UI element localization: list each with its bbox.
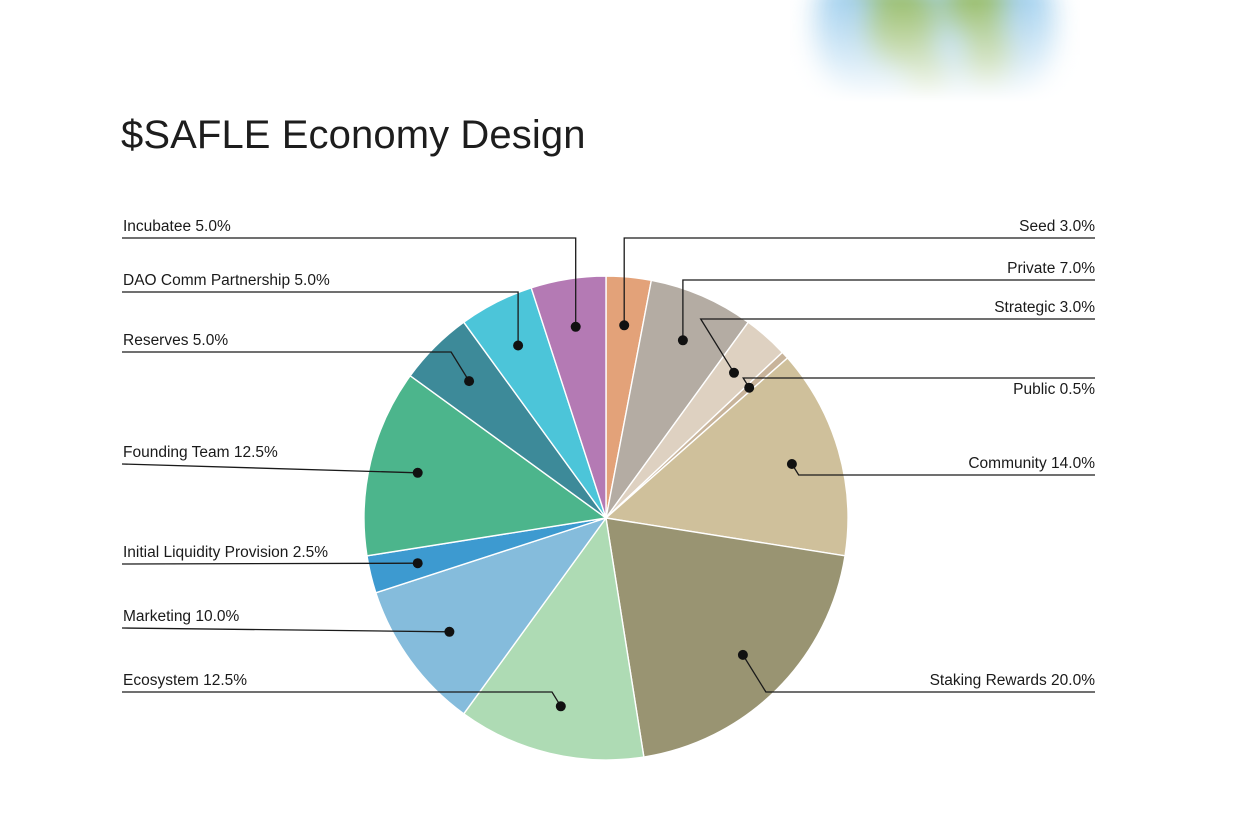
leader-dot-ecosystem (556, 701, 566, 711)
leader-dot-founding-team (413, 468, 423, 478)
pie-label-reserves: Reserves 5.0% (123, 333, 228, 349)
leader-dot-reserves (464, 376, 474, 386)
leader-dot-dao-comm-partnership (513, 341, 523, 351)
leader-dot-strategic (729, 368, 739, 378)
pie-label-founding-team: Founding Team 12.5% (123, 445, 278, 461)
leader-line-initial-liquidity-provision (122, 563, 418, 564)
leader-dot-marketing (444, 627, 454, 637)
pie-label-seed: Seed 3.0% (1019, 219, 1095, 235)
pie-label-community: Community 14.0% (968, 456, 1095, 472)
pie-label-incubatee: Incubatee 5.0% (123, 219, 231, 235)
pie-label-ecosystem: Ecosystem 12.5% (123, 673, 247, 689)
leader-dot-seed (619, 320, 629, 330)
pie-label-public: Public 0.5% (1013, 382, 1095, 398)
pie-slice-staking-rewards (606, 518, 845, 757)
leader-dot-private (678, 335, 688, 345)
leader-dot-incubatee (571, 322, 581, 332)
pie-label-marketing: Marketing 10.0% (123, 609, 239, 625)
pie-slice-group (364, 276, 848, 760)
pie-label-private: Private 7.0% (1007, 261, 1095, 277)
leader-dot-staking-rewards (738, 650, 748, 660)
pie-chart (0, 0, 1252, 830)
pie-label-dao-comm-partnership: DAO Comm Partnership 5.0% (123, 273, 330, 289)
pie-label-staking-rewards: Staking Rewards 20.0% (930, 673, 1095, 689)
chart-canvas: $SAFLE Economy Design Seed 3.0% Private … (0, 0, 1252, 830)
pie-label-strategic: Strategic 3.0% (994, 300, 1095, 316)
pie-label-initial-liquidity-provision: Initial Liquidity Provision 2.5% (123, 545, 328, 561)
leader-dot-public (744, 383, 754, 393)
leader-dot-initial-liquidity-provision (413, 558, 423, 568)
leader-dot-community (787, 459, 797, 469)
